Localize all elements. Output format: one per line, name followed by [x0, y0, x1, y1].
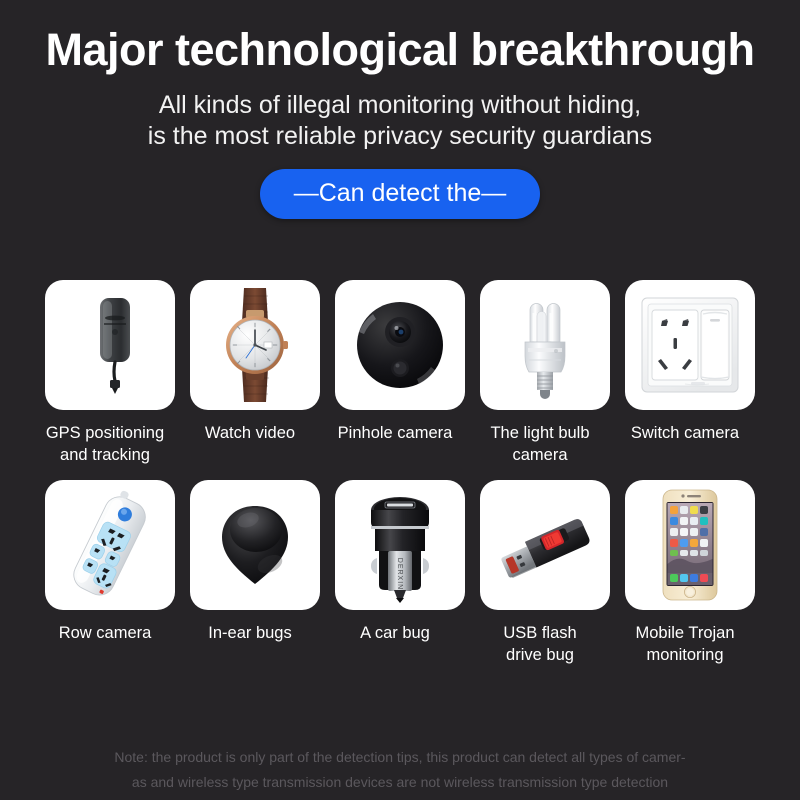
product-tile[interactable] [480, 280, 610, 410]
caption-line-2: drive bug [506, 646, 574, 664]
can-detect-banner-wrap: —Can detect the— [0, 169, 800, 219]
svg-text:DERXIN: DERXIN [396, 558, 403, 590]
power-strip-icon [45, 480, 175, 610]
footer-note-line-1: Note: the product is only part of the de… [0, 745, 800, 770]
grid-item-pinhole[interactable]: Pinhole camera [335, 280, 465, 466]
page-title: Major technological breakthrough [0, 24, 800, 76]
subtitle-line-2: is the most reliable privacy security gu… [0, 121, 800, 152]
caption-line-2: monitoring [646, 646, 723, 664]
caption-line-1: Switch camera [631, 424, 739, 442]
product-caption: A car bug [320, 622, 470, 644]
detection-grid: GPS positioning and tracking [45, 280, 757, 666]
caption-line-1: Pinhole camera [338, 424, 453, 442]
caption-line-1: A car bug [360, 624, 430, 642]
subtitle-line-1: All kinds of illegal monitoring without … [0, 90, 800, 121]
grid-item-phone[interactable]: Mobile Trojan monitoring [625, 480, 755, 666]
product-caption: GPS positioning and tracking [30, 422, 180, 466]
product-tile[interactable] [625, 280, 755, 410]
caption-line-1: USB flash [503, 624, 576, 642]
product-tile[interactable] [335, 280, 465, 410]
light-bulb-icon [480, 280, 610, 410]
can-detect-banner[interactable]: —Can detect the— [260, 169, 541, 219]
in-ear-earbud-icon [190, 480, 320, 610]
detection-row-1: GPS positioning and tracking [45, 280, 757, 466]
caption-line-1: In-ear bugs [208, 624, 291, 642]
wall-switch-socket-icon [625, 280, 755, 410]
product-caption: The light bulb camera [465, 422, 615, 466]
pinhole-camera-icon [335, 280, 465, 410]
product-tile[interactable] [45, 280, 175, 410]
grid-item-switch[interactable]: Switch camera [625, 280, 755, 466]
promo-page: Major technological breakthrough All kin… [0, 0, 800, 800]
wristwatch-icon [190, 280, 320, 410]
detection-row-2: Row camera [45, 480, 757, 666]
grid-item-car-charger[interactable]: DERXIN A car bug [335, 480, 465, 666]
gps-tracker-icon [45, 280, 175, 410]
caption-line-2: and tracking [60, 446, 150, 464]
product-caption: Switch camera [610, 422, 760, 444]
footer-note: Note: the product is only part of the de… [0, 745, 800, 795]
caption-line-1: The light bulb [490, 424, 589, 442]
grid-item-watch[interactable]: Watch video [190, 280, 320, 466]
smartphone-icon [625, 480, 755, 610]
caption-line-2: camera [512, 446, 567, 464]
product-tile[interactable] [190, 280, 320, 410]
grid-item-bulb[interactable]: The light bulb camera [480, 280, 610, 466]
product-caption: Watch video [175, 422, 325, 444]
car-charger-icon: DERXIN [335, 480, 465, 610]
grid-item-power-strip[interactable]: Row camera [45, 480, 175, 666]
grid-item-earbud[interactable]: In-ear bugs [190, 480, 320, 666]
product-caption: In-ear bugs [175, 622, 325, 644]
product-caption: Mobile Trojan monitoring [610, 622, 760, 666]
product-caption: USB flash drive bug [465, 622, 615, 666]
product-tile[interactable] [190, 480, 320, 610]
product-tile[interactable] [625, 480, 755, 610]
product-tile[interactable]: DERXIN [335, 480, 465, 610]
product-tile[interactable] [480, 480, 610, 610]
usb-flash-drive-icon [480, 480, 610, 610]
product-caption: Row camera [30, 622, 180, 644]
product-caption: Pinhole camera [320, 422, 470, 444]
caption-line-1: Row camera [59, 624, 152, 642]
product-tile[interactable] [45, 480, 175, 610]
caption-line-1: Mobile Trojan [635, 624, 734, 642]
caption-line-1: GPS positioning [46, 424, 164, 442]
caption-line-1: Watch video [205, 424, 295, 442]
grid-item-gps[interactable]: GPS positioning and tracking [45, 280, 175, 466]
grid-item-usb[interactable]: USB flash drive bug [480, 480, 610, 666]
page-subtitle: All kinds of illegal monitoring without … [0, 90, 800, 152]
footer-note-line-2: as and wireless type transmission device… [0, 770, 800, 795]
